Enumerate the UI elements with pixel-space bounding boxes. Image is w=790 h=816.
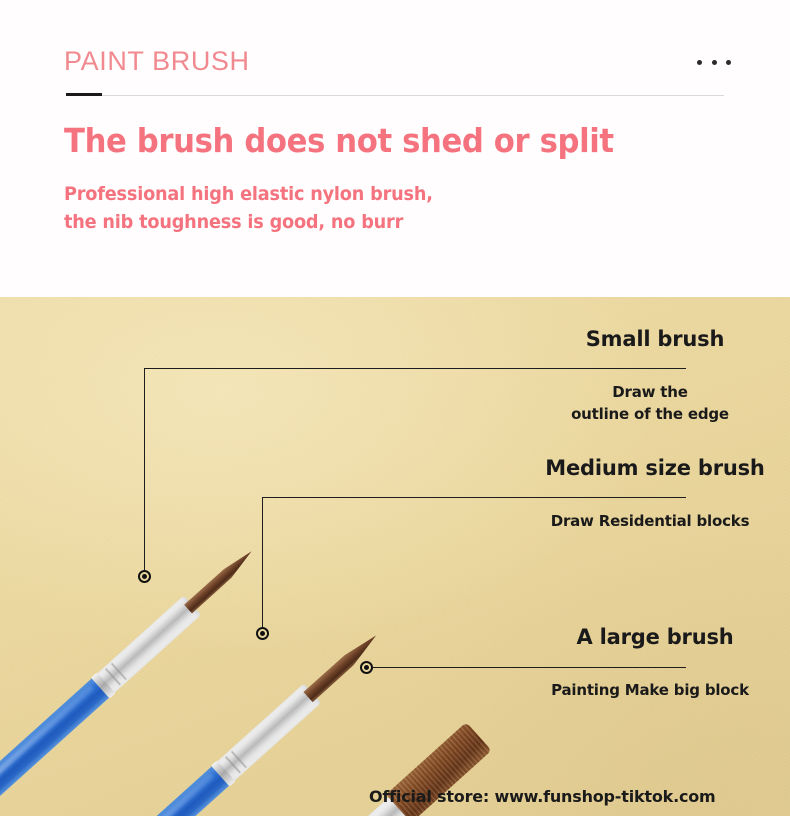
page-eyebrow-title: PAINT BRUSH: [64, 46, 250, 77]
page-subtitle-line-1: Professional high elastic nylon brush,: [64, 180, 433, 208]
photo-texture: [0, 297, 790, 816]
more-dot-3: [726, 60, 731, 65]
leader-dot-large: [360, 661, 373, 674]
callout-title-medium-brush: Medium size brush: [530, 456, 780, 480]
callout-title-large-brush: A large brush: [530, 625, 780, 649]
callout-desc-medium-brush: Draw Residential blocks: [520, 510, 780, 532]
leader-line-large-horizontal: [366, 667, 686, 668]
leader-line-medium-vertical: [262, 497, 263, 633]
header-divider-accent: [66, 93, 102, 96]
header-panel: PAINT BRUSH The brush does not shed or s…: [0, 0, 790, 297]
more-horizontal-icon[interactable]: [697, 54, 731, 70]
official-store-text: Official store: www.funshop-tiktok.com: [369, 787, 716, 806]
leader-dot-medium: [256, 627, 269, 640]
page-subtitle-line-2: the nib toughness is good, no burr: [64, 208, 433, 236]
callout-desc-small-brush-line-2: outline of the edge: [520, 403, 780, 425]
callout-desc-small-brush: Draw the outline of the edge: [520, 381, 780, 425]
leader-line-small-horizontal: [144, 368, 686, 369]
product-photo: Small brush Draw the outline of the edge…: [0, 297, 790, 816]
leader-line-small-vertical: [144, 368, 145, 576]
leader-line-medium-horizontal: [262, 497, 686, 498]
header-divider: [66, 95, 724, 96]
more-dot-1: [697, 60, 702, 65]
callout-desc-small-brush-line-1: Draw the: [520, 381, 780, 403]
page-headline: The brush does not shed or split: [64, 121, 614, 160]
more-dot-2: [712, 60, 717, 65]
callout-title-small-brush: Small brush: [530, 327, 780, 351]
page-subtitle: Professional high elastic nylon brush, t…: [64, 180, 433, 236]
callout-desc-medium-brush-line-1: Draw Residential blocks: [520, 510, 780, 532]
callout-desc-large-brush-line-1: Painting Make big block: [520, 679, 780, 701]
callout-desc-large-brush: Painting Make big block: [520, 679, 780, 701]
leader-dot-small: [138, 570, 151, 583]
